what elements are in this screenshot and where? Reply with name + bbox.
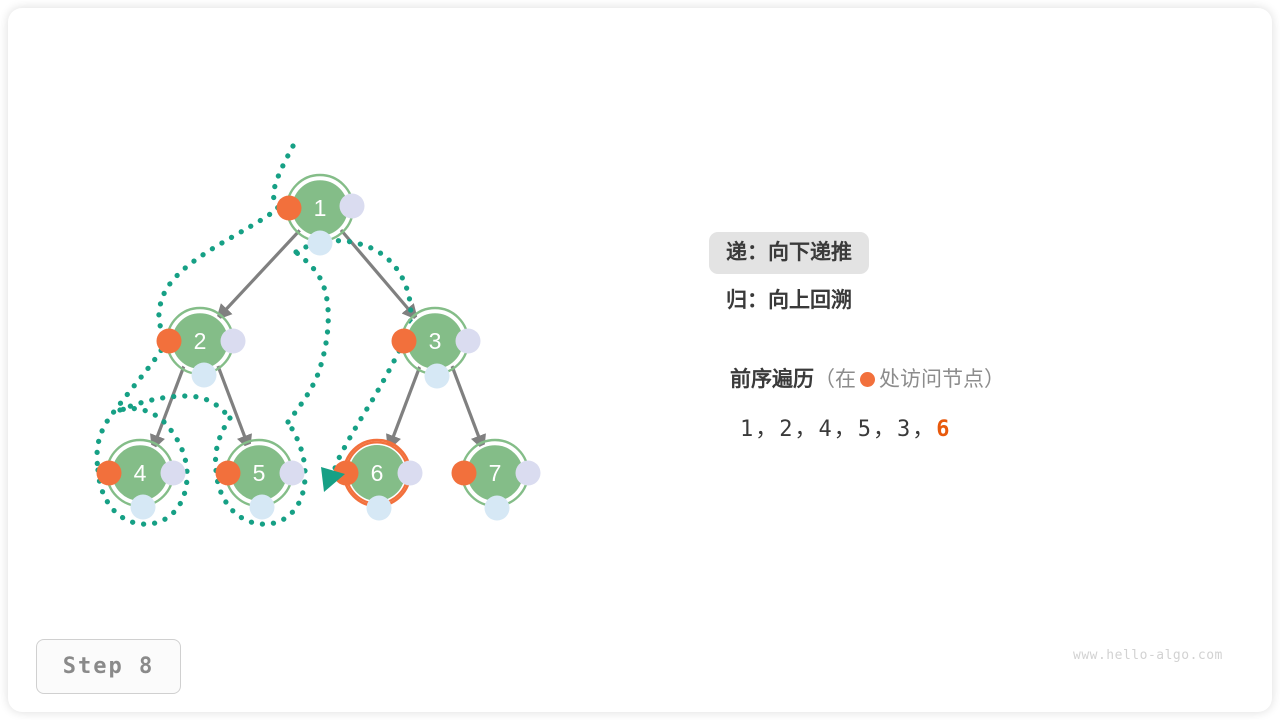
traversal-title-prefix: （在: [814, 368, 856, 391]
node-1-in-dot: [340, 194, 365, 219]
node-3-label: 3: [429, 328, 442, 354]
tree-node-6[interactable]: 6: [334, 440, 423, 521]
traversal-title-suffix: 处访问节点）: [879, 368, 1005, 391]
legend-panel: 递：向下递推 归：向上回溯: [726, 232, 1246, 311]
node-2-pre-dot: [157, 329, 182, 354]
node-4-pre-dot: [97, 461, 122, 486]
tree-node-5[interactable]: 5: [216, 440, 305, 520]
legend-backtrack-label: 归：向上回溯: [726, 289, 852, 312]
edge-3-6: [389, 366, 420, 448]
traversal-title: 前序遍历（在处访问节点）: [730, 363, 1005, 393]
orange-dot-icon: [860, 372, 875, 387]
traversal-sequence: 1，2，4，5，3，6: [740, 411, 951, 443]
node-3-in-dot: [456, 329, 481, 354]
tree-node-4[interactable]: 4: [97, 440, 186, 520]
node-1-pre-dot: [277, 196, 302, 221]
path-segment-backtrack-4: [120, 396, 230, 418]
node-7-post-dot: [485, 496, 510, 521]
node-5-label: 5: [253, 460, 266, 486]
node-7-pre-dot: [452, 461, 477, 486]
edge-2-4: [153, 366, 184, 448]
node-2-post-dot: [192, 363, 217, 388]
node-4-label: 4: [134, 460, 147, 486]
node-3-pre-dot: [392, 329, 417, 354]
node-2-in-dot: [221, 329, 246, 354]
node-3-post-dot: [425, 364, 450, 389]
node-1-post-dot: [308, 231, 333, 256]
diagram-page: 1 2 3 4: [0, 0, 1280, 720]
node-6-post-dot: [367, 496, 392, 521]
node-7-label: 7: [489, 460, 502, 486]
edge-3-7: [452, 366, 483, 448]
traversal-title-bold: 前序遍历: [730, 368, 814, 391]
traversal-seq-head: 1，2，4，5，3，: [740, 417, 936, 442]
node-5-pre-dot: [216, 461, 241, 486]
step-badge-label: Step 8: [63, 654, 154, 679]
path-segment-backtrack-2-enter-3: [288, 252, 328, 422]
edge-2-5: [218, 366, 249, 448]
node-6-label: 6: [371, 460, 384, 486]
node-1-label: 1: [314, 195, 327, 221]
node-4-post-dot: [131, 495, 156, 520]
tree-node-7[interactable]: 7: [452, 440, 541, 521]
node-5-post-dot: [250, 495, 275, 520]
legend-recurse-label: 递：向下递推: [709, 232, 869, 274]
step-badge: Step 8: [36, 639, 181, 694]
tree-node-3[interactable]: 3: [392, 308, 481, 389]
legend-row-backtrack: 归：向上回溯: [726, 290, 1246, 311]
node-6-in-dot: [398, 461, 423, 486]
traversal-seq-current: 6: [936, 417, 951, 442]
watermark: www.hello-algo.com: [1073, 648, 1223, 663]
edge-1-3: [341, 230, 416, 318]
node-4-in-dot: [161, 461, 186, 486]
tree-node-2[interactable]: 2: [157, 308, 246, 388]
legend-row-recurse: 递：向下递推: [726, 232, 1246, 274]
node-5-in-dot: [280, 461, 305, 486]
edge-1-2: [218, 230, 300, 318]
node-7-in-dot: [516, 461, 541, 486]
node-2-label: 2: [194, 328, 207, 354]
tree-diagram: 1 2 3 4: [0, 0, 1280, 720]
